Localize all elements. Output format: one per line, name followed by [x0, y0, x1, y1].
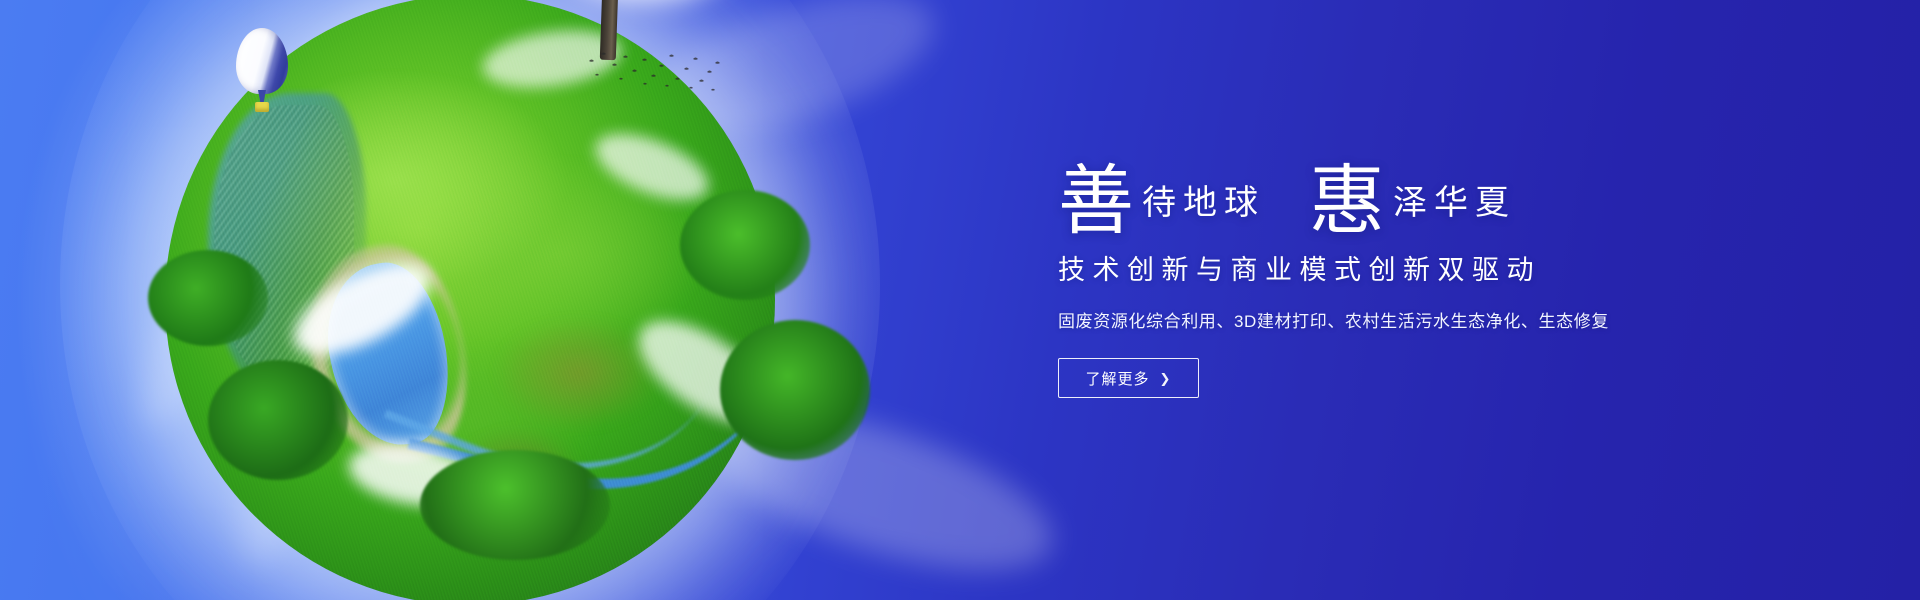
tree-mist [560, 0, 730, 2]
planet-cloud [344, 436, 482, 516]
tree-on-planet [450, 0, 750, 32]
mountain-ridge [208, 93, 367, 398]
planet-cloud [622, 301, 775, 443]
hot-air-balloon-icon [236, 28, 288, 120]
edge-tree [680, 190, 810, 300]
edge-tree [420, 450, 610, 560]
edge-tree [208, 360, 348, 480]
headline-accent-1: 善 [1058, 166, 1134, 236]
edge-tree [720, 320, 870, 460]
sky-haze [0, 0, 980, 600]
hero-copy: 善 待地球 惠 泽华夏 技术创新与商业模式创新双驱动 固废资源化综合利用、3D建… [1058, 140, 1848, 398]
headline-rest-1: 待地球 [1134, 175, 1265, 232]
balloon-envelope [236, 28, 288, 94]
balloon-basket [255, 102, 269, 112]
lake-shore [297, 236, 479, 475]
river-branch [384, 240, 727, 527]
headline-rest-2: 泽华夏 [1385, 175, 1516, 232]
cloud-wisp [690, 377, 1069, 600]
birds-icon [585, 48, 725, 98]
cloud-wisp [121, 133, 298, 437]
headline: 善 待地球 惠 泽华夏 [1058, 140, 1848, 232]
headline-accent-2: 惠 [1309, 166, 1385, 236]
grass-texture [202, 44, 739, 569]
planet-cloud [587, 121, 718, 214]
river [408, 201, 775, 531]
tagline: 固废资源化综合利用、3D建材打印、农村生活污水生态净化、生态修复 [1058, 307, 1848, 332]
mountain-ridge-texture [214, 105, 354, 386]
lake [318, 256, 458, 453]
hero-banner: 善 待地球 惠 泽华夏 技术创新与商业模式创新双驱动 固废资源化综合利用、3D建… [0, 0, 1920, 600]
learn-more-button[interactable]: 了解更多 ❯ [1058, 358, 1199, 398]
cloud-wisp [216, 265, 385, 575]
planet-atmosphere-glow [60, 0, 880, 600]
balloon-neck [258, 90, 266, 102]
chevron-right-icon: ❯ [1160, 372, 1172, 385]
edge-tree [148, 250, 268, 346]
subtitle: 技术创新与商业模式创新双驱动 [1058, 248, 1848, 287]
learn-more-label: 了解更多 [1086, 368, 1150, 389]
planet-cloud [280, 244, 443, 373]
